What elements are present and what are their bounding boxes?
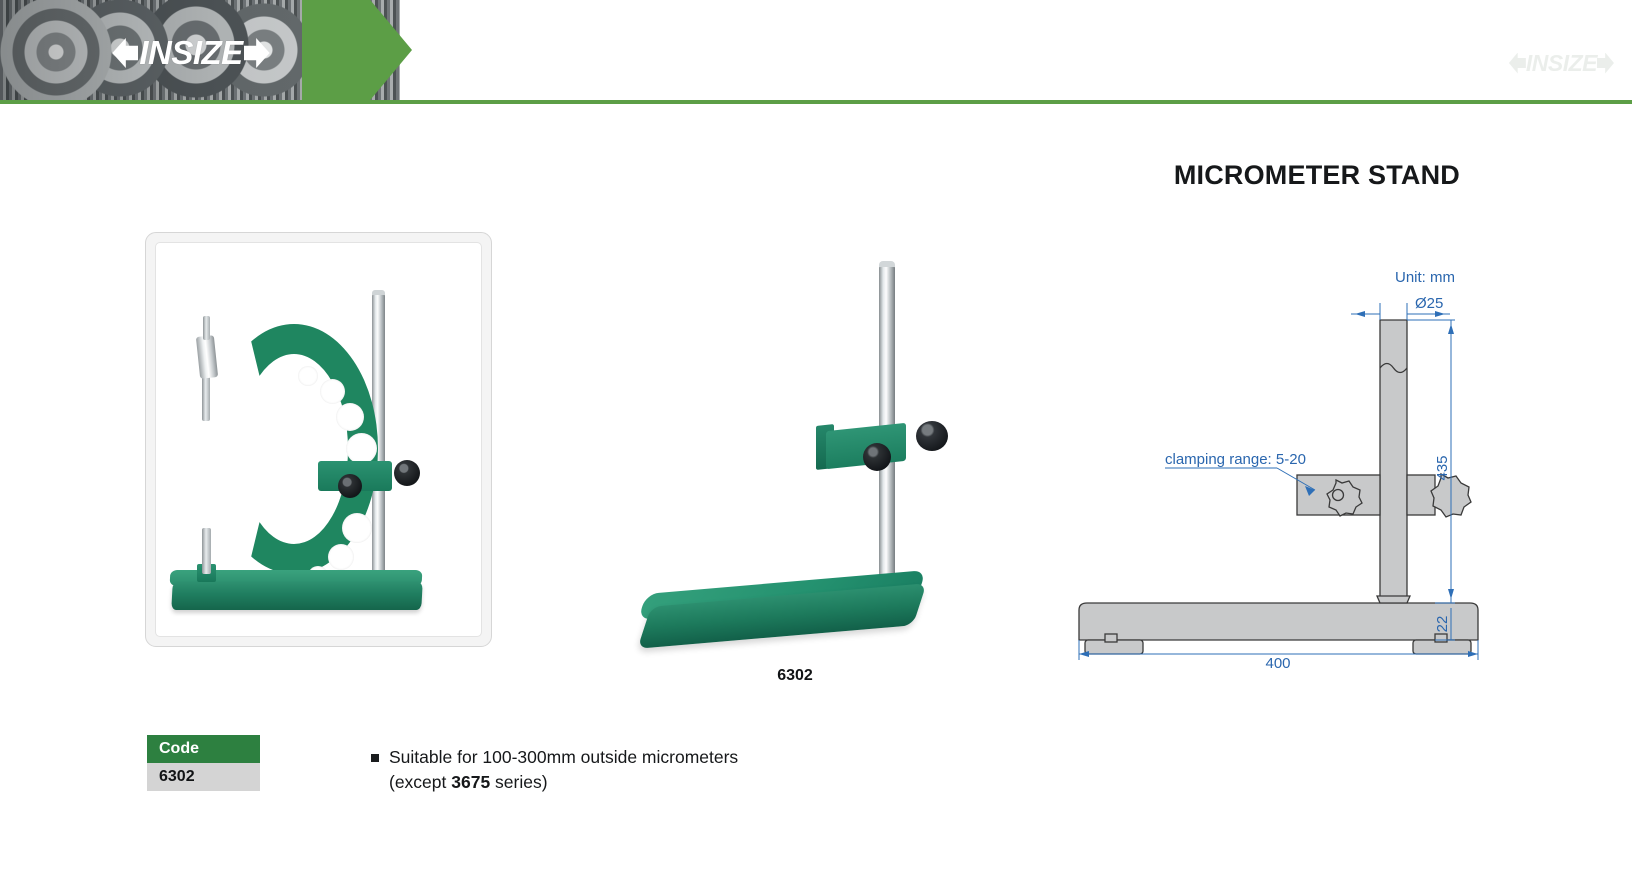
feature-text: Suitable for 100-300mm outside micromete… [389,745,738,795]
drawing-post-foot [1377,596,1410,603]
photo1-frame-hole [328,544,354,570]
drawing-dim-height: 435 [1434,455,1451,480]
catalog-page: INSIZE INSIZE MICROMETER STAND [0,0,1632,883]
photo1-micrometer-thimble [196,335,218,379]
photo1-post-cap [372,290,385,295]
photo2-knob-front [863,443,891,471]
photo1-frame-hole [336,403,364,431]
watermark-text: INSIZE [1526,53,1597,74]
drawing-base [1079,603,1478,640]
drawing-dim-base-length: 400 [1265,655,1290,672]
feature-line-1: Suitable for 100-300mm outside micromete… [389,747,738,767]
feature-line-2-after: series) [490,772,547,792]
product-photo-framed [145,232,492,647]
photo1-frame-hole [342,513,372,543]
photo1-frame-hole [346,433,377,464]
insize-watermark: INSIZE [1509,48,1614,78]
product-photo-stand: 6302 [620,205,970,665]
drawing-clamp-right [1407,475,1435,515]
header-green-rule [0,100,1632,104]
page-title: MICROMETER STAND [1174,160,1460,191]
feature-line-2-bold: 3675 [451,772,490,792]
photo1-frame-hole [298,366,318,386]
code-table-header-cell: Code [147,735,260,763]
photo2-caption: 6302 [620,667,970,685]
code-table: Code 6302 [147,735,260,791]
drawing-foot-left-stud [1105,634,1117,642]
drawing-dim-base-thickness: 22 [1434,616,1451,633]
watermark-left-arrow-icon [1509,53,1526,74]
logo-right-arrow-icon [244,38,270,68]
photo2-post-cap [879,261,895,267]
drawing-clamping-range: clamping range: 5-20 [1165,451,1306,468]
square-bullet-icon [371,754,379,762]
drawing-foot-right-stud [1435,634,1447,642]
photo1-micrometer-spindle [203,316,210,340]
feature-list: Suitable for 100-300mm outside micromete… [371,745,991,795]
photo1-knob-side [394,460,420,486]
watermark-right-arrow-icon [1597,53,1614,74]
photo1-base [171,582,422,610]
photo2-knob-side [916,421,948,451]
product-image-micrometer-on-stand [156,243,481,636]
code-table-cell-code: 6302 [147,763,260,791]
insize-logo: INSIZE [96,34,286,72]
logo-text: INSIZE [138,38,243,68]
list-item: Suitable for 100-300mm outside micromete… [371,745,991,795]
photo1-frame-hole [320,379,345,404]
photo1-lower-rod [202,528,211,574]
drawing-unit-label: Unit: mm [1395,269,1455,286]
code-table-header-row: Code [147,735,260,763]
photo1-knob-front [338,474,362,498]
table-row: 6302 [147,763,260,791]
feature-line-2-before: (except [389,772,451,792]
logo-left-arrow-icon [112,38,138,68]
technical-drawing: Unit: mm Ø25 clamping range: 5-20 435 22… [1055,258,1525,678]
page-header: INSIZE INSIZE [0,0,1632,100]
drawing-dim-diameter: Ø25 [1415,295,1443,312]
